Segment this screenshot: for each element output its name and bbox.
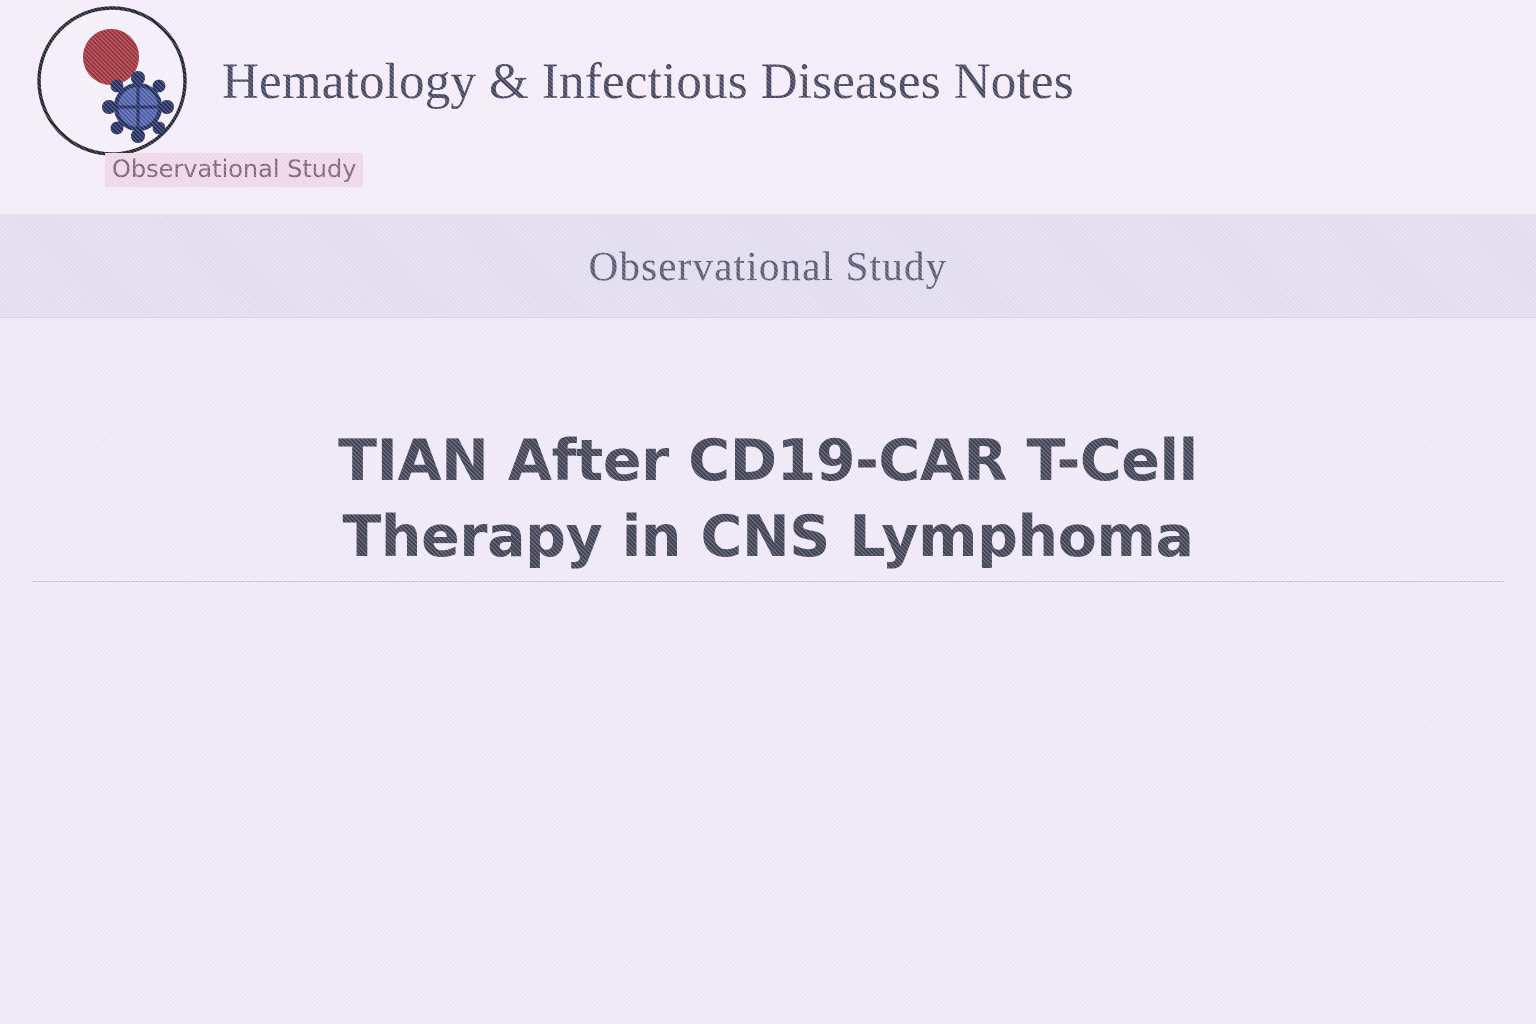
site-brand-title: Hematology & Infectious Diseases Notes xyxy=(222,42,1082,122)
virus-glyph xyxy=(102,71,174,143)
study-type-badge: Observational Study xyxy=(105,153,363,187)
article-title-line-2: Therapy in CNS Lymphoma xyxy=(342,504,1193,570)
hematology-infectious-disease-logo-icon xyxy=(33,2,191,160)
article-body xyxy=(32,618,1504,638)
article-title-line-1: TIAN After CD19-CAR T-Cell xyxy=(338,428,1198,494)
section-banner: Observational Study xyxy=(0,214,1536,318)
header-inner: Hematology & Infectious Diseases Notes O… xyxy=(0,0,1536,214)
main-content: TIAN After CD19-CAR T-Cell Therapy in CN… xyxy=(0,318,1536,1024)
site-header: Hematology & Infectious Diseases Notes O… xyxy=(0,0,1536,214)
section-banner-label: Observational Study xyxy=(589,242,948,290)
article-title: TIAN After CD19-CAR T-Cell Therapy in CN… xyxy=(0,423,1536,575)
title-divider xyxy=(32,581,1504,582)
